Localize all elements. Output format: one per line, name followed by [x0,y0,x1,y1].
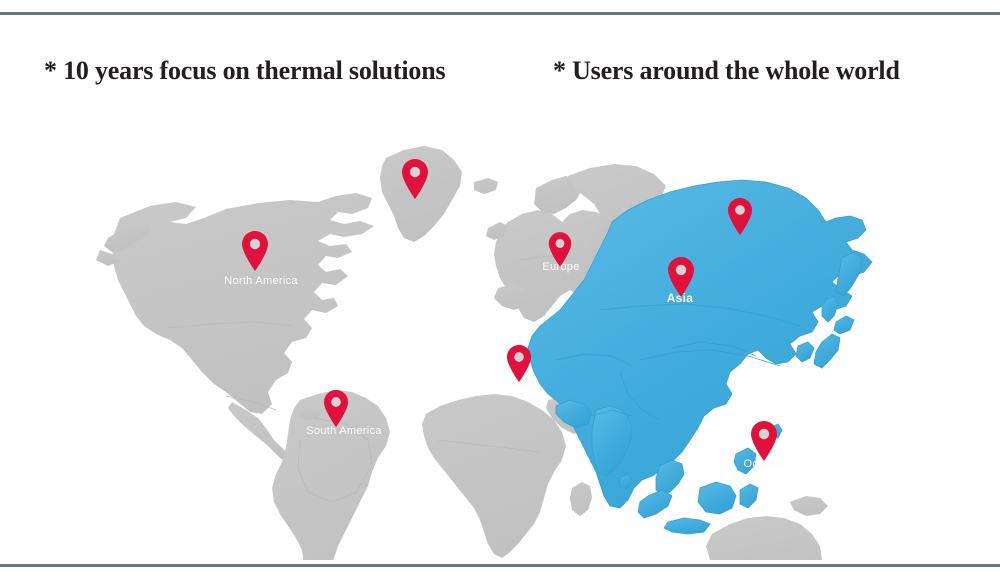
japan-islands [814,334,840,368]
pin-oceania[interactable] [749,420,779,462]
java [664,518,710,534]
top-divider-rule [0,12,1000,15]
pin-greenland[interactable] [400,158,430,200]
map-pin-icon [666,256,696,298]
map-pin-icon [726,197,754,236]
sumatra [638,490,672,518]
papua-new-guinea-grey [790,496,828,516]
korea-peninsula [796,342,814,362]
map-pin-icon [749,420,779,462]
map-pin-icon [505,344,533,383]
australia-landmass [706,516,822,560]
world-map-graphic [0,110,1000,560]
pin-asia[interactable] [666,256,696,298]
japan-hokkaido [834,316,854,334]
map-pin-icon [322,389,350,428]
borneo [698,482,736,514]
iceland [474,178,498,194]
bottom-divider-rule [0,564,1000,567]
headline-users-worldwide: * Users around the whole world [553,56,900,86]
pin-south-america[interactable] [322,389,350,428]
map-pin-icon [547,231,573,268]
pin-africa[interactable] [505,344,533,383]
world-map-container: North America South America Europe Afric… [0,110,1000,560]
map-pin-icon [240,230,270,272]
africa-landmass [422,394,566,558]
pin-europe[interactable] [547,231,573,268]
madagascar [570,482,592,516]
map-pin-icon [400,158,430,200]
headline-thermal-solutions: * 10 years focus on thermal solutions [44,56,445,86]
slide-root: * 10 years focus on thermal solutions * … [0,0,1000,580]
pin-north-america[interactable] [240,230,270,272]
continent-label-north-america: North America [224,275,298,287]
sulawesi [740,484,758,508]
pin-siberia[interactable] [726,197,754,236]
